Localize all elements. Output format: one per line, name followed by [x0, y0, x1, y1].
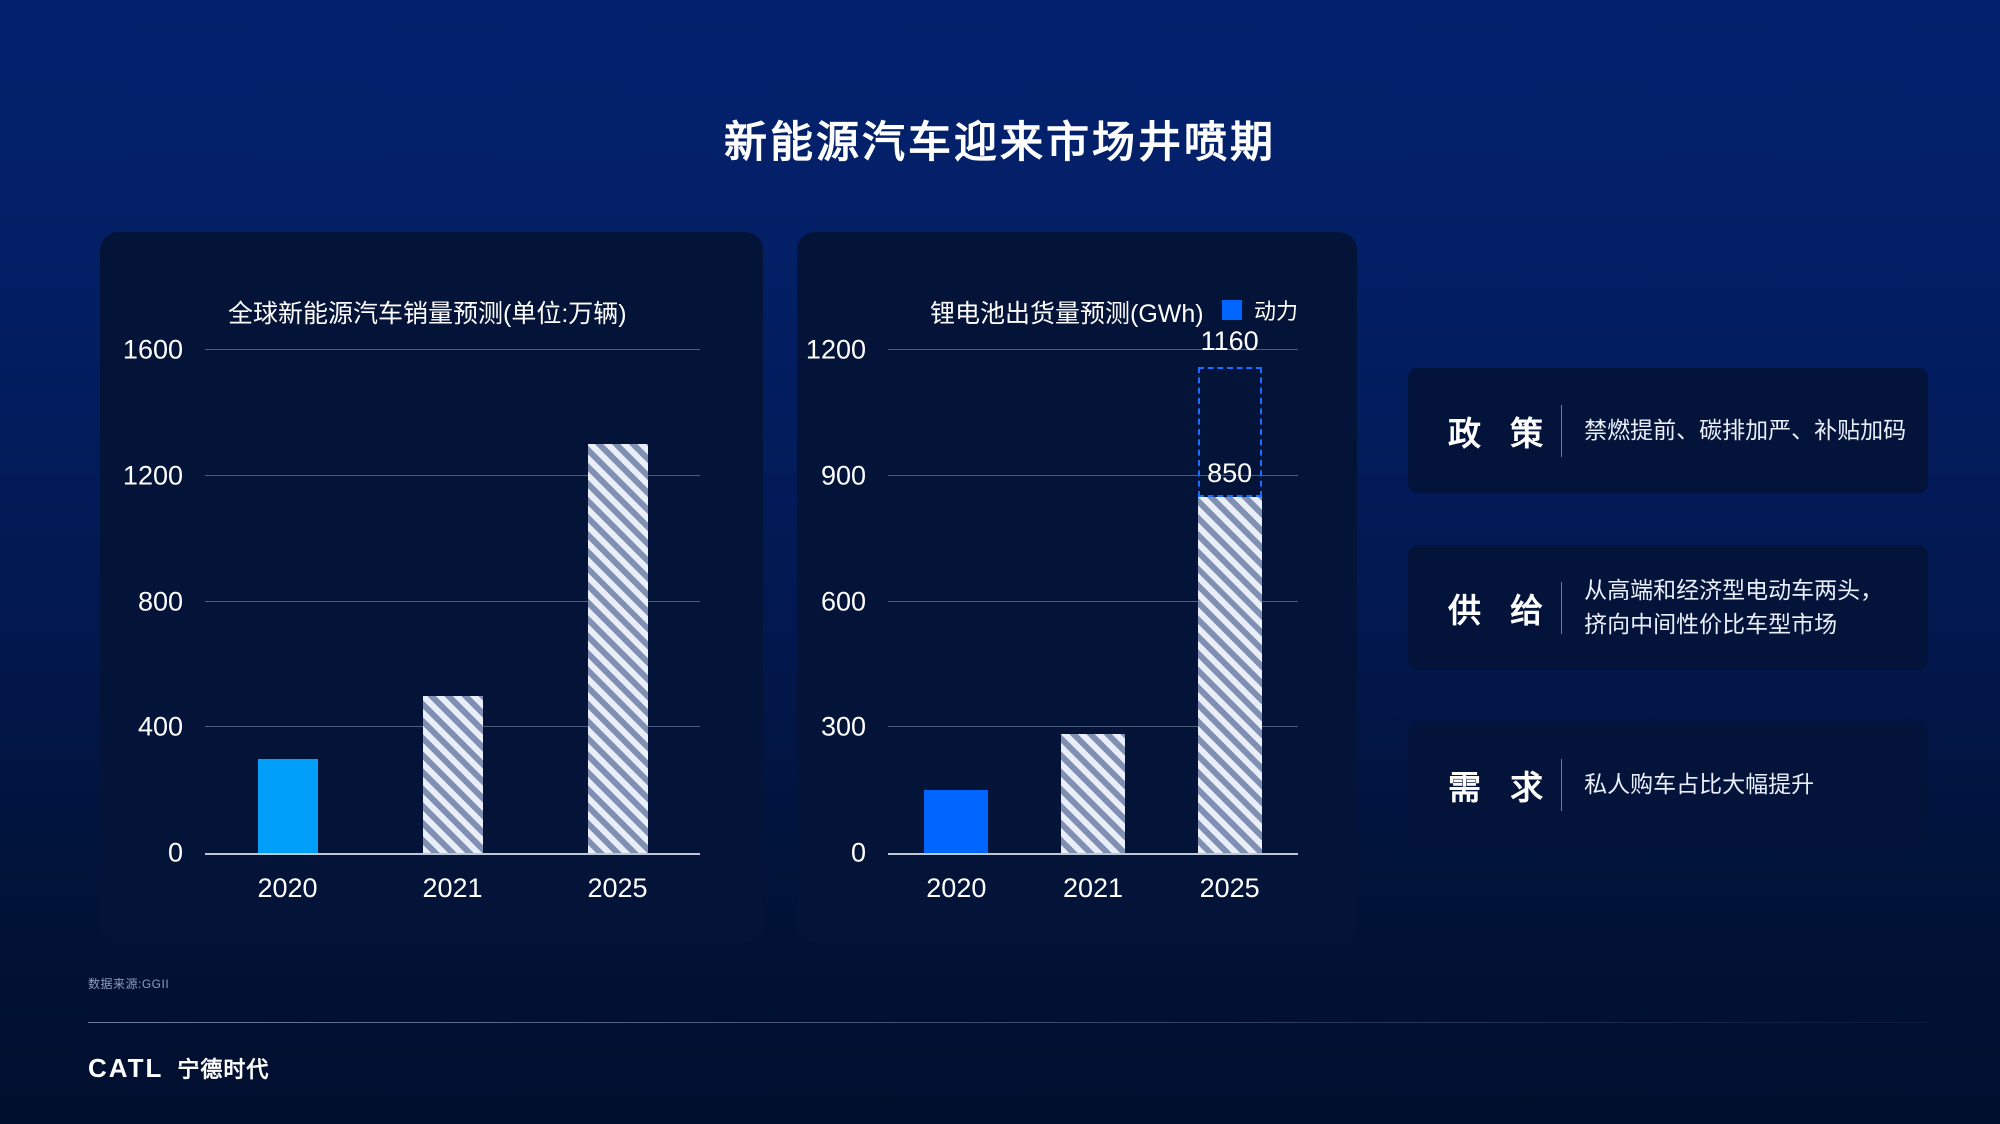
x-axis-tick-label: 2025: [1200, 873, 1260, 904]
x-axis-line: [888, 853, 1298, 855]
x-axis-line: [205, 853, 700, 855]
info-panel-key: 政 策: [1448, 407, 1553, 455]
bar-2025: [588, 444, 648, 853]
x-axis-tick-label: 2021: [422, 873, 482, 904]
info-panel-text: 私人购车占比大幅提升: [1584, 768, 1928, 801]
x-axis-tick-label: 2021: [1063, 873, 1123, 904]
legend-label: 动力: [1254, 294, 1298, 326]
y-axis-tick-label: 0: [851, 838, 888, 869]
y-axis-tick-label: 1200: [123, 460, 205, 491]
gridline: [205, 349, 700, 350]
chart-plot-ev-sales: 040080012001600202020212025: [205, 350, 700, 855]
projection-value-label: 1160: [1201, 326, 1259, 357]
info-panel-text: 从高端和经济型电动车两头， 挤向中间性价比车型市场: [1584, 574, 1928, 641]
divider: [1561, 405, 1562, 457]
info-panel-demand: 需 求 私人购车占比大幅提升: [1408, 722, 1928, 847]
chart-plot-battery-shipment: 030060090012002020202120258501160: [888, 350, 1298, 855]
page-title: 新能源汽车迎来市场井喷期: [0, 108, 2000, 170]
y-axis-tick-label: 300: [821, 712, 888, 743]
y-axis-tick-label: 0: [168, 838, 205, 869]
x-axis-tick-label: 2020: [257, 873, 317, 904]
y-axis-tick-label: 600: [821, 586, 888, 617]
legend-swatch-icon: [1222, 300, 1242, 320]
info-panel-text: 禁燃提前、碳排加严、补贴加码: [1584, 414, 1928, 447]
bar-2021: [423, 696, 483, 853]
info-panel-key: 供 给: [1448, 584, 1553, 632]
data-source-note: 数据来源:GGII: [88, 975, 169, 992]
x-axis-tick-label: 2020: [926, 873, 986, 904]
bar-2025: [1198, 497, 1262, 853]
y-axis-tick-label: 800: [138, 586, 205, 617]
bar-2021: [1061, 734, 1125, 853]
brand-logo: CATL 宁德时代: [88, 1052, 269, 1084]
divider: [1561, 759, 1562, 811]
brand-logo-latin: CATL: [88, 1053, 163, 1084]
y-axis-tick-label: 400: [138, 712, 205, 743]
y-axis-tick-label: 900: [821, 460, 888, 491]
chart-title-battery-shipment: 锂电池出货量预测(GWh): [930, 294, 1204, 330]
footer-divider: [88, 1022, 1928, 1023]
bar-2020: [924, 790, 988, 853]
chart-legend: 动力: [1222, 294, 1298, 326]
x-axis-tick-label: 2025: [587, 873, 647, 904]
brand-logo-cn: 宁德时代: [177, 1052, 269, 1084]
info-panel-supply: 供 给 从高端和经济型电动车两头， 挤向中间性价比车型市场: [1408, 545, 1928, 670]
projection-box: [1198, 367, 1262, 497]
y-axis-tick-label: 1200: [806, 335, 888, 366]
chart-title-ev-sales: 全球新能源汽车销量预测(单位:万辆): [228, 294, 627, 330]
bar-2020: [258, 759, 318, 853]
info-panel-policy: 政 策 禁燃提前、碳排加严、补贴加码: [1408, 368, 1928, 493]
y-axis-tick-label: 1600: [123, 335, 205, 366]
divider: [1561, 582, 1562, 634]
info-panel-key: 需 求: [1448, 761, 1553, 809]
